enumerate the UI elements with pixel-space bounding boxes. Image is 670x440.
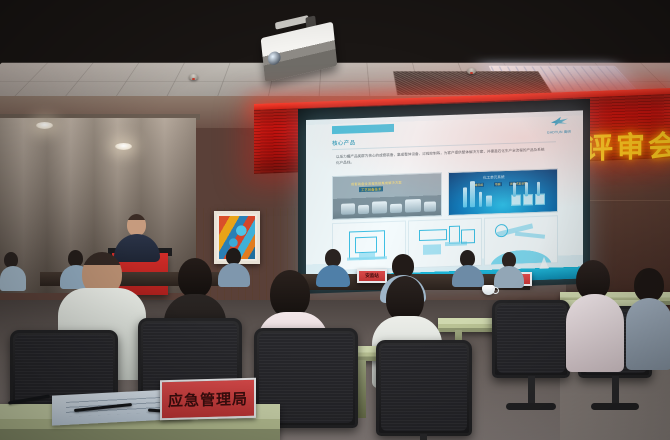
- office-chair: [492, 300, 570, 378]
- presenter-head: [127, 214, 146, 236]
- attendee: [566, 260, 624, 370]
- downlight: [36, 122, 53, 129]
- attendee-torso: [626, 298, 670, 370]
- attendee: [0, 252, 26, 290]
- desk-leg: [358, 360, 366, 418]
- downlight: [115, 143, 132, 150]
- smoke-detector-icon: [467, 68, 476, 74]
- attendee-head: [634, 268, 664, 302]
- led-banner-right-text: 评审会: [584, 122, 670, 167]
- nameplate-front-text: 应急管理局: [168, 387, 248, 410]
- attendee: [452, 250, 484, 286]
- attendee: [494, 252, 524, 286]
- nameplate-front: 应急管理局: [160, 378, 256, 421]
- office-chair: [376, 340, 472, 436]
- attendee: [626, 268, 670, 368]
- smoke-detector-icon: [189, 74, 198, 80]
- teacup: [482, 285, 495, 295]
- conference-room-photo: 第五届 评审会 核心产品 以压力罐产品类群为核心的成套装备，集成整体设备、过程控…: [0, 0, 670, 440]
- attendee-torso: [566, 294, 624, 372]
- attendee-head: [270, 270, 310, 318]
- attendee-head: [178, 258, 212, 298]
